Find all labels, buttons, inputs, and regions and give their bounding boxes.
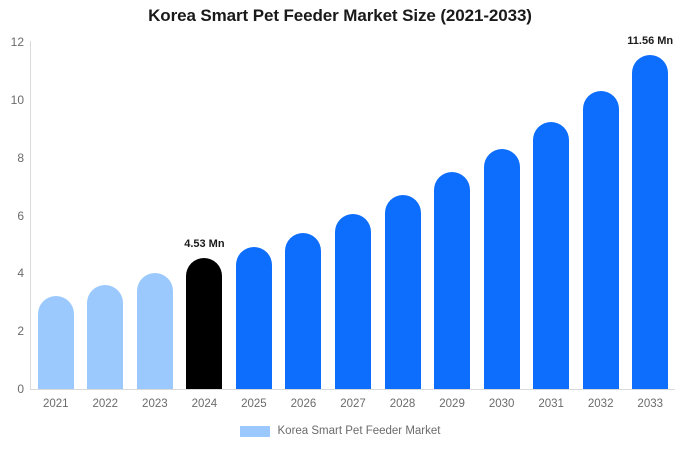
legend-label-korea-smart-pet-feeder-market: Korea Smart Pet Feeder Market [278, 425, 441, 437]
chart-legend: Korea Smart Pet Feeder Market [0, 425, 680, 437]
y-axis-tick-labels: 024681012 [0, 0, 24, 450]
x-axis-tick-label-2026: 2026 [291, 398, 317, 410]
x-axis-tick-label-2031: 2031 [538, 398, 564, 410]
y-axis-tick-label: 8 [0, 151, 24, 165]
bar-2026[interactable] [285, 233, 321, 389]
bar-2033[interactable] [632, 55, 668, 389]
x-axis-tick-label-2027: 2027 [340, 398, 366, 410]
legend-swatch-korea-smart-pet-feeder-market [240, 426, 270, 437]
x-axis-tick-label-2033: 2033 [637, 398, 663, 410]
bar-2029[interactable] [434, 172, 470, 389]
bar-2023[interactable] [137, 273, 173, 389]
x-axis-line [30, 389, 675, 390]
bar-2027[interactable] [335, 214, 371, 389]
x-axis-tick-label-2023: 2023 [142, 398, 168, 410]
y-axis-tick-label: 10 [0, 93, 24, 107]
bar-2022[interactable] [87, 285, 123, 389]
x-axis-tick-label-2021: 2021 [43, 398, 69, 410]
bar-2032[interactable] [583, 91, 619, 389]
bar-2025[interactable] [236, 247, 272, 389]
x-axis-tick-label-2024: 2024 [192, 398, 218, 410]
y-axis-tick-label: 2 [0, 324, 24, 338]
x-axis-tick-label-2030: 2030 [489, 398, 515, 410]
chart-title: Korea Smart Pet Feeder Market Size (2021… [0, 6, 680, 26]
x-axis-tick-label-2028: 2028 [390, 398, 416, 410]
plot-area [31, 36, 675, 389]
bar-2031[interactable] [533, 122, 569, 389]
bar-2021[interactable] [38, 296, 74, 389]
x-axis-tick-label-2022: 2022 [93, 398, 119, 410]
y-axis-tick-label: 4 [0, 266, 24, 280]
x-axis-tick-label-2032: 2032 [588, 398, 614, 410]
bar-value-label-2024: 4.53 Mn [184, 238, 224, 250]
y-axis-tick-label: 6 [0, 209, 24, 223]
x-axis-tick-label-2029: 2029 [439, 398, 465, 410]
bar-2030[interactable] [484, 149, 520, 389]
y-axis-tick-label: 0 [0, 382, 24, 396]
bar-2028[interactable] [385, 195, 421, 389]
bar-value-label-2033: 11.56 Mn [627, 35, 673, 47]
bar-2024[interactable] [186, 258, 222, 389]
chart-container: Korea Smart Pet Feeder Market Size (2021… [0, 0, 680, 450]
y-axis-tick-label: 12 [0, 35, 24, 49]
x-axis-tick-label-2025: 2025 [241, 398, 267, 410]
